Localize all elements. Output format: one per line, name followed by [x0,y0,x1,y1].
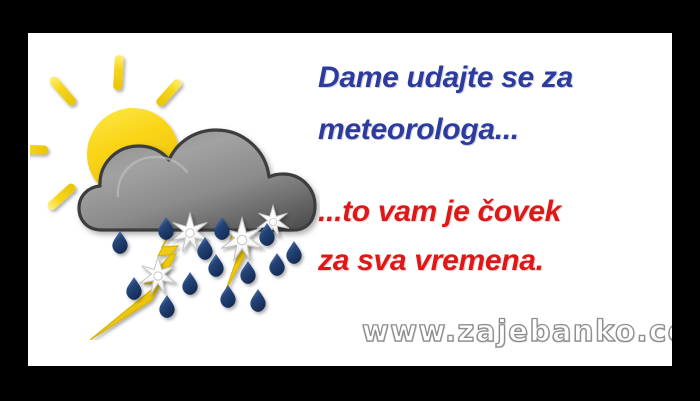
mixed-weather-icon [30,50,320,340]
caption-red-line-2: za sva vremena. [318,246,668,276]
raindrop [112,231,127,254]
raindrop [250,289,265,312]
raindrop [240,261,255,284]
meme-canvas: Dame udajte se za meteorologa... ...to v… [28,33,672,366]
raindrop [197,237,212,260]
raindrop [159,295,174,318]
raindrop [208,254,223,277]
raindrop [269,253,284,276]
caption-text-block: Dame udajte se za meteorologa... ...to v… [318,63,668,276]
sun-ray-lower-left [46,182,77,211]
raindrop [182,272,197,295]
sun-ray-upper-left [48,75,78,107]
sun-ray-left [30,144,48,154]
weather-icon-svg [30,50,320,340]
sun-ray-upper-right [155,77,184,108]
site-watermark: www.zajebanko.com [362,314,672,348]
raindrop [286,241,301,264]
caption-red-line-1: ...to vam je čovek [318,197,668,227]
sun-ray-top [113,55,124,90]
meme-frame: Dame udajte se za meteorologa... ...to v… [0,0,700,401]
raindrop [126,277,141,300]
caption-blue-line-2: meteorologa... [318,115,668,145]
raindrop [220,285,235,308]
caption-blue-line-1: Dame udajte se za [318,63,668,93]
